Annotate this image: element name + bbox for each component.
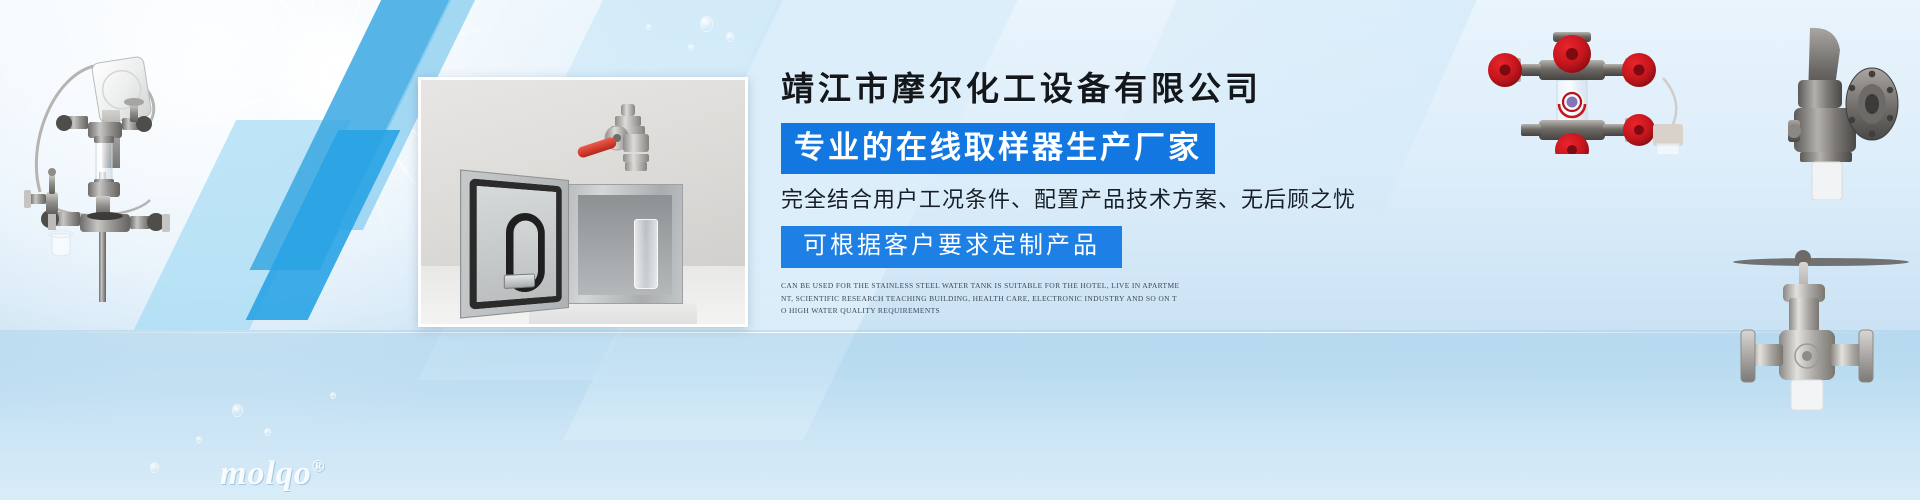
sample-bottle bbox=[634, 219, 658, 289]
water-droplet-icon bbox=[688, 44, 694, 51]
water-droplet-icon bbox=[330, 392, 336, 399]
product-image-gate-valve bbox=[1733, 232, 1919, 422]
horizon-line bbox=[0, 332, 1920, 333]
custom-product-bar: 可根据客户要求定制产品 bbox=[781, 226, 1122, 268]
product-image-cross-valve-sampler bbox=[1487, 24, 1727, 154]
door-gasket bbox=[470, 178, 562, 309]
water-droplet-icon bbox=[646, 24, 651, 30]
water-droplet-icon bbox=[150, 462, 159, 473]
registered-mark-icon: ® bbox=[312, 457, 326, 476]
headline-highlight-bar: 专业的在线取样器生产厂家 bbox=[781, 123, 1215, 174]
cabinet-door bbox=[460, 169, 569, 318]
cabinet-top-valve bbox=[599, 102, 659, 188]
water-droplet-icon bbox=[232, 404, 243, 417]
product-photo-sampling-cabinet bbox=[418, 77, 748, 327]
product-image-flanged-valve bbox=[1788, 24, 1916, 200]
cabinet-body bbox=[567, 184, 683, 304]
sunburst-core bbox=[260, 0, 410, 150]
product-image-online-sampler bbox=[10, 22, 175, 302]
english-description: CAN BE USED FOR THE STAINLESS STEEL WATE… bbox=[781, 280, 1181, 317]
promotional-banner: 靖江市摩尔化工设备有限公司 专业的在线取样器生产厂家 完全结合用户工况条件、配置… bbox=[0, 0, 1920, 500]
water-droplet-icon bbox=[264, 428, 271, 436]
water-droplet-icon bbox=[726, 32, 734, 42]
sub-headline: 完全结合用户工况条件、配置产品技术方案、无后顾之忧 bbox=[781, 186, 1421, 214]
diagonal-ribbon bbox=[246, 130, 401, 320]
water-droplet-icon bbox=[196, 436, 202, 443]
water-droplet-icon bbox=[700, 16, 713, 32]
brand-watermark: molqo® bbox=[220, 455, 326, 493]
banner-text-block: 靖江市摩尔化工设备有限公司 专业的在线取样器生产厂家 完全结合用户工况条件、配置… bbox=[781, 72, 1421, 318]
watermark-text: molqo bbox=[220, 455, 312, 492]
door-latch bbox=[504, 273, 535, 289]
company-name: 靖江市摩尔化工设备有限公司 bbox=[781, 72, 1421, 110]
